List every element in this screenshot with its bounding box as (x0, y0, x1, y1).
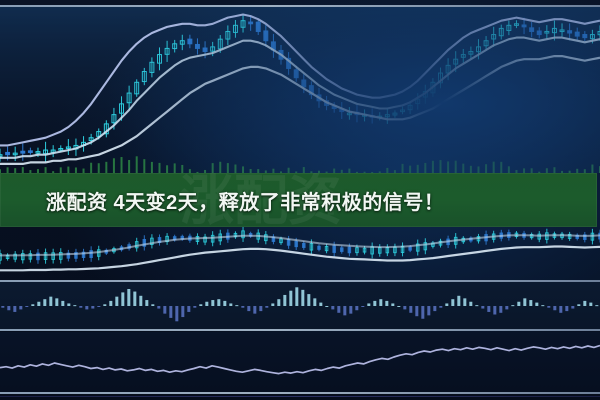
bottom-divider (0, 392, 600, 394)
banner-headline-text: 涨配资 4天变2天，释放了非常积极的信号！ (46, 186, 444, 215)
candlestick-series-lower (0, 227, 600, 264)
bottom-accent-divider (0, 396, 600, 397)
price-lower-strip-svg (0, 227, 600, 279)
stock-chart-banner-image: 涨配资 涨配资 4天变2天，释放了非常积极的信号！ (0, 0, 600, 400)
bollinger-lower-band-line-continued (0, 247, 600, 271)
oscillator-panel-top-divider (0, 329, 600, 331)
macd-histogram-panel (0, 282, 600, 329)
headline-banner: 涨配资 涨配资 4天变2天，释放了非常积极的信号！ (0, 173, 597, 227)
price-chart-svg (0, 7, 600, 173)
bollinger-middle-band-line (0, 38, 600, 158)
oscillator-svg (0, 332, 600, 392)
macd-histogram-bars (1, 287, 598, 321)
volume-bars (0, 156, 600, 173)
oscillator-panel (0, 332, 600, 392)
candlestick-series (0, 15, 600, 162)
price-chart-panel (0, 7, 600, 173)
oscillator-line (0, 346, 600, 374)
price-chart-lower-strip (0, 227, 600, 279)
bollinger-upper-band-line (0, 15, 600, 146)
bollinger-lower-band-line (0, 56, 600, 164)
macd-histogram-svg (0, 282, 600, 329)
